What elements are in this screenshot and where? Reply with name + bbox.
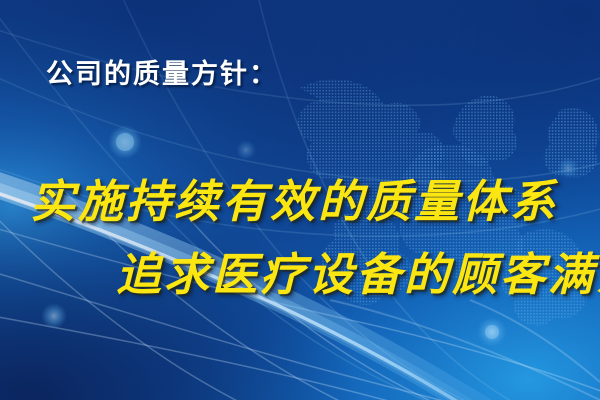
slogan-line-2: 追求医疗设备的顾客满意 [116,238,600,303]
slogan-line-1: 实施持续有效的质量体系 [30,165,558,230]
page-title: 公司的质量方针： [46,52,278,91]
quality-policy-banner: 公司的质量方针： 实施持续有效的质量体系 追求医疗设备的顾客满意 [0,0,600,400]
text-layer: 公司的质量方针： 实施持续有效的质量体系 追求医疗设备的顾客满意 [0,0,600,400]
